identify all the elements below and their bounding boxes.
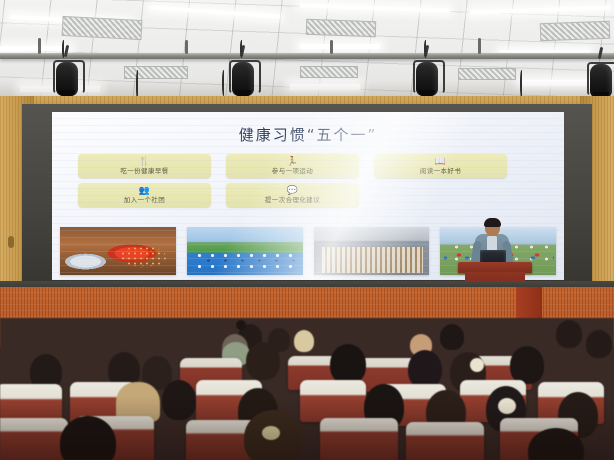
fork-knife-icon: 🍴	[139, 157, 150, 166]
audience-hair-bun	[470, 358, 484, 372]
spotlight-cable	[240, 40, 244, 58]
audience-hair-bun	[236, 320, 246, 330]
ceiling-light	[0, 46, 70, 51]
slide-card-suggestion: 💬 提一次合理化建议	[226, 183, 359, 207]
card-row-1: 🍴 吃一份健康早餐 🏃 参与一项运动 📖 阅读一本好书	[78, 154, 538, 178]
audience-head	[556, 320, 582, 348]
ceiling-vent	[540, 21, 611, 41]
truss-hanger	[478, 38, 481, 54]
spotlight-cable	[520, 70, 524, 98]
speech-bubble-icon: 💬	[287, 186, 298, 195]
truss-hanger	[330, 40, 333, 54]
audience-head	[586, 330, 612, 358]
slide-title: 健康习惯“五个一”	[52, 124, 564, 145]
audience-hair-bun	[498, 398, 516, 414]
ceiling-vent	[306, 19, 377, 37]
slide-card-label: 加入一个社团	[124, 196, 165, 204]
audience-head	[246, 342, 280, 380]
spotlight-cable	[62, 40, 66, 58]
slide-card-sport: 🏃 参与一项运动	[226, 154, 359, 178]
photo-outdoor-sports	[187, 227, 303, 275]
audience-head	[510, 346, 544, 384]
seat[interactable]	[320, 418, 398, 460]
photo-healthy-breakfast	[60, 227, 176, 275]
spotlight-cable	[424, 40, 428, 58]
door-handle-icon[interactable]	[8, 236, 14, 248]
seat[interactable]	[300, 380, 366, 422]
truss-hanger	[185, 40, 188, 54]
audience-head	[162, 380, 196, 420]
slide-card-label: 提一次合理化建议	[265, 196, 320, 204]
ceiling-vent	[124, 66, 188, 79]
running-person-icon: 🏃	[287, 157, 298, 166]
truss-hanger	[38, 38, 41, 54]
photo-library-bookshelves	[314, 227, 430, 275]
ceiling-vent	[300, 66, 358, 78]
group-people-icon: 👥	[139, 186, 150, 195]
ceiling-light	[300, 44, 380, 49]
slide-card-club: 👥 加入一个社团	[78, 183, 211, 207]
open-book-icon: 📖	[435, 157, 446, 166]
slide-card-breakfast: 🍴 吃一份健康早餐	[78, 154, 211, 178]
slide-card-label: 阅读一本好书	[420, 167, 461, 175]
stage-spotlight	[412, 54, 442, 100]
stage-spotlight	[228, 54, 258, 100]
audience-head	[330, 344, 366, 384]
slide-card-grid: 🍴 吃一份健康早餐 🏃 参与一项运动 📖 阅读一本好书 👥 加入一个社团	[78, 154, 538, 212]
card-row-2: 👥 加入一个社团 💬 提一次合理化建议	[78, 183, 538, 207]
ceiling-vent	[458, 68, 516, 80]
seat[interactable]	[406, 422, 484, 460]
spotlight-cable	[222, 70, 226, 96]
stage-spotlight	[52, 54, 82, 100]
lighting-truss	[0, 53, 614, 59]
slide-card-book: 📖 阅读一本好书	[374, 154, 507, 178]
auditorium-scene: 健康习惯“五个一” 🍴 吃一份健康早餐 🏃 参与一项运动 📖 阅读一本好书	[0, 0, 614, 460]
slide-card-label: 参与一项运动	[272, 167, 313, 175]
audience-head	[440, 324, 464, 350]
audience-hair-bun	[262, 426, 280, 440]
slide-card-label: 吃一份健康早餐	[120, 167, 168, 175]
seated-audience	[0, 318, 614, 460]
ceiling-vent	[62, 16, 143, 40]
seat[interactable]	[0, 418, 68, 460]
audience-head	[294, 330, 314, 352]
audience-head	[408, 350, 442, 388]
